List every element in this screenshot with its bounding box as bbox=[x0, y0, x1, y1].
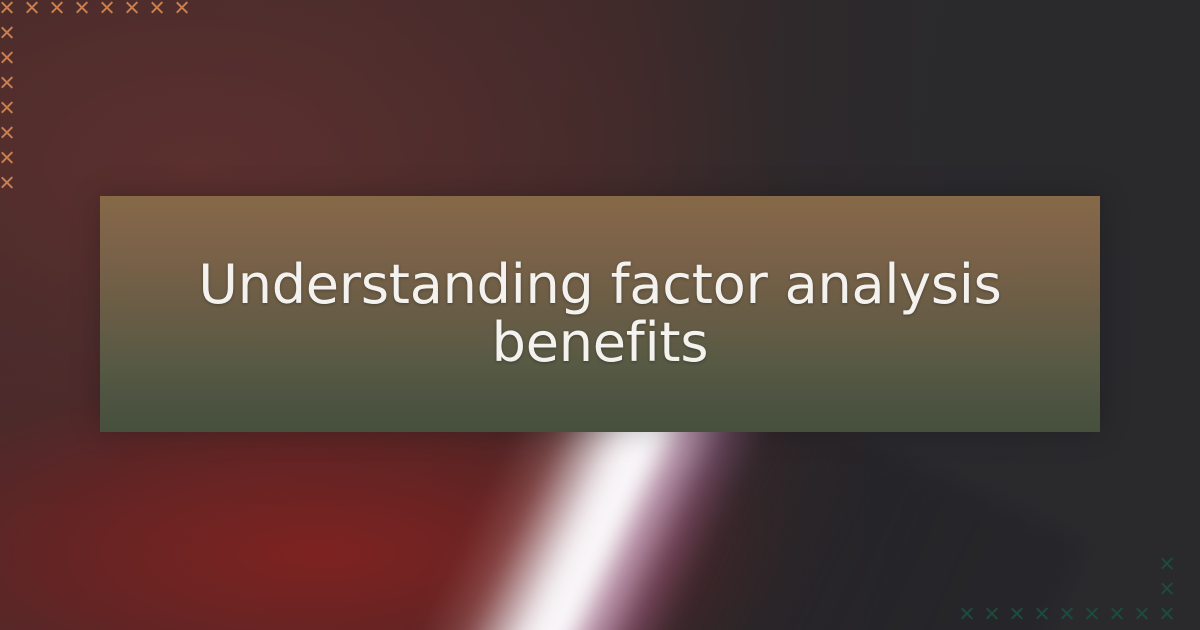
title-card-canvas: Understanding factor analysis benefits bbox=[0, 0, 1200, 630]
page-title: Understanding factor analysis benefits bbox=[170, 256, 1030, 373]
light-beam-group bbox=[0, 432, 1200, 630]
title-banner: Understanding factor analysis benefits bbox=[100, 196, 1100, 432]
